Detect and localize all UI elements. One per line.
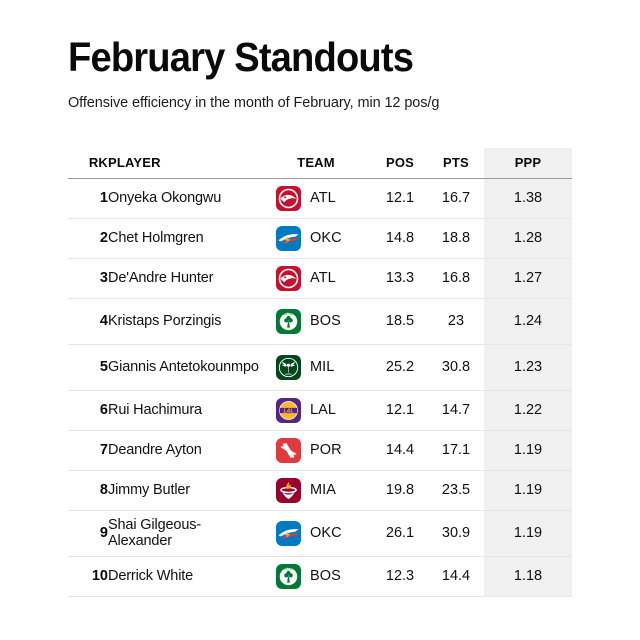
svg-text:CELTICS: CELTICS <box>282 311 295 315</box>
team-cell: ATL <box>260 186 372 211</box>
cell-rank: 6 <box>68 390 108 430</box>
player-name-text: Giannis Antetokounmpo <box>108 359 260 375</box>
cell-player-name[interactable]: De'Andre Hunter <box>108 258 260 298</box>
table-row[interactable]: 6Rui Hachimura LAL LAL12.114.71.22 <box>68 390 572 430</box>
team-abbreviation: MIA <box>310 482 336 498</box>
cell-pos: 18.5 <box>372 298 428 344</box>
cell-player-name[interactable]: Deandre Ayton <box>108 430 260 470</box>
player-name-text: Onyeka Okongwu <box>108 190 260 206</box>
player-name-text: Deandre Ayton <box>108 442 260 458</box>
cell-pts: 17.1 <box>428 430 484 470</box>
team-abbreviation: OKC <box>310 525 342 541</box>
table-row[interactable]: 3De'Andre Hunter ATL13.316.81.27 <box>68 258 572 298</box>
standouts-page: February Standouts Offensive efficiency … <box>0 0 640 640</box>
table-body: 1Onyeka Okongwu ATL12.116.71.382Chet Hol… <box>68 178 572 596</box>
team-cell: LAL LAL <box>260 398 372 423</box>
cell-pos: 14.8 <box>372 218 428 258</box>
cell-ppp: 1.18 <box>484 556 572 596</box>
team-abbreviation: POR <box>310 442 342 458</box>
cell-rank: 10 <box>68 556 108 596</box>
cell-team[interactable]: OKC <box>260 218 372 258</box>
lakers-logo: LAL <box>276 398 301 423</box>
cell-team[interactable]: MIL <box>260 344 372 390</box>
cell-pts: 14.7 <box>428 390 484 430</box>
cell-ppp: 1.19 <box>484 510 572 556</box>
svg-text:LAL: LAL <box>283 408 293 414</box>
cell-pos: 14.4 <box>372 430 428 470</box>
hawks-logo <box>276 186 301 211</box>
column-header-team[interactable]: TEAM <box>260 148 372 178</box>
cell-ppp: 1.28 <box>484 218 572 258</box>
cell-ppp: 1.19 <box>484 470 572 510</box>
cell-pts: 16.8 <box>428 258 484 298</box>
table-row[interactable]: 5Giannis Antetokounmpo MIL25.230.81.23 <box>68 344 572 390</box>
cell-player-name[interactable]: Chet Holmgren <box>108 218 260 258</box>
cell-player-name[interactable]: Onyeka Okongwu <box>108 178 260 218</box>
cell-ppp: 1.27 <box>484 258 572 298</box>
player-name-text: Rui Hachimura <box>108 402 260 418</box>
cell-team[interactable]: ATL <box>260 258 372 298</box>
player-name-text: Jimmy Butler <box>108 482 260 498</box>
cell-team[interactable]: CELTICS BOS <box>260 298 372 344</box>
cell-player-name[interactable]: Rui Hachimura <box>108 390 260 430</box>
table-row[interactable]: 10Derrick White CELTICS BOS12.314.41.18 <box>68 556 572 596</box>
bucks-logo <box>276 355 301 380</box>
team-cell: ATL <box>260 266 372 291</box>
cell-player-name[interactable]: Kristaps Porzingis <box>108 298 260 344</box>
column-header-rk[interactable]: RK <box>68 148 108 178</box>
cell-rank: 7 <box>68 430 108 470</box>
table-header: RK PLAYER TEAM POS PTS PPP <box>68 148 572 178</box>
cell-player-name[interactable]: Jimmy Butler <box>108 470 260 510</box>
team-abbreviation: MIL <box>310 359 334 375</box>
team-cell: MIA <box>260 478 372 503</box>
column-header-player[interactable]: PLAYER <box>108 148 260 178</box>
team-cell: OKC <box>260 226 372 251</box>
cell-ppp: 1.23 <box>484 344 572 390</box>
hawks-logo <box>276 266 301 291</box>
player-name-text: Shai Gilgeous-Alexander <box>108 517 260 549</box>
cell-pts: 16.7 <box>428 178 484 218</box>
cell-team[interactable]: MIA <box>260 470 372 510</box>
stats-table: RK PLAYER TEAM POS PTS PPP 1Onyeka Okong… <box>68 148 572 597</box>
column-header-pos[interactable]: POS <box>372 148 428 178</box>
cell-pos: 26.1 <box>372 510 428 556</box>
player-name-text: Chet Holmgren <box>108 230 260 246</box>
cell-ppp: 1.24 <box>484 298 572 344</box>
cell-team[interactable]: CELTICS BOS <box>260 556 372 596</box>
cell-pts: 30.8 <box>428 344 484 390</box>
cell-pos: 12.3 <box>372 556 428 596</box>
cell-pos: 13.3 <box>372 258 428 298</box>
column-header-pts[interactable]: PTS <box>428 148 484 178</box>
player-name-text: Kristaps Porzingis <box>108 313 260 329</box>
cell-pos: 19.8 <box>372 470 428 510</box>
cell-pts: 30.9 <box>428 510 484 556</box>
cell-player-name[interactable]: Derrick White <box>108 556 260 596</box>
cell-player-name[interactable]: Giannis Antetokounmpo <box>108 344 260 390</box>
thunder-logo <box>276 226 301 251</box>
table-row[interactable]: 7Deandre Ayton POR14.417.11.19 <box>68 430 572 470</box>
cell-player-name[interactable]: Shai Gilgeous-Alexander <box>108 510 260 556</box>
cell-ppp: 1.38 <box>484 178 572 218</box>
cell-team[interactable]: ATL <box>260 178 372 218</box>
cell-rank: 9 <box>68 510 108 556</box>
player-name-text: De'Andre Hunter <box>108 270 260 286</box>
cell-rank: 5 <box>68 344 108 390</box>
svg-text:CELTICS: CELTICS <box>282 566 295 570</box>
cell-rank: 1 <box>68 178 108 218</box>
team-abbreviation: ATL <box>310 190 336 206</box>
cell-rank: 4 <box>68 298 108 344</box>
table-header-row: RK PLAYER TEAM POS PTS PPP <box>68 148 572 178</box>
cell-rank: 8 <box>68 470 108 510</box>
cell-pos: 12.1 <box>372 390 428 430</box>
team-cell: MIL <box>260 355 372 380</box>
table-row[interactable]: 4Kristaps Porzingis CELTICS BOS18.5231.2… <box>68 298 572 344</box>
blazers-logo <box>276 438 301 463</box>
team-cell: OKC <box>260 521 372 546</box>
celtics-logo: CELTICS <box>276 309 301 334</box>
cell-pts: 23 <box>428 298 484 344</box>
heat-logo <box>276 478 301 503</box>
team-abbreviation: OKC <box>310 230 342 246</box>
team-cell: POR <box>260 438 372 463</box>
cell-pts: 18.8 <box>428 218 484 258</box>
page-title: February Standouts <box>68 36 537 79</box>
celtics-logo: CELTICS <box>276 564 301 589</box>
table-row[interactable]: 9Shai Gilgeous-Alexander OKC26.130.91.19 <box>68 510 572 556</box>
column-header-ppp[interactable]: PPP <box>484 148 572 178</box>
cell-rank: 2 <box>68 218 108 258</box>
team-cell: CELTICS BOS <box>260 309 372 334</box>
cell-pts: 23.5 <box>428 470 484 510</box>
thunder-logo <box>276 521 301 546</box>
cell-rank: 3 <box>68 258 108 298</box>
heading-block: February Standouts Offensive efficiency … <box>68 36 572 112</box>
team-abbreviation: BOS <box>310 568 341 584</box>
stats-table-container: RK PLAYER TEAM POS PTS PPP 1Onyeka Okong… <box>68 148 572 597</box>
cell-ppp: 1.19 <box>484 430 572 470</box>
cell-pts: 14.4 <box>428 556 484 596</box>
team-abbreviation: LAL <box>310 402 336 418</box>
cell-team[interactable]: OKC <box>260 510 372 556</box>
team-abbreviation: ATL <box>310 270 336 286</box>
cell-team[interactable]: LAL LAL <box>260 390 372 430</box>
page-subtitle: Offensive efficiency in the month of Feb… <box>68 95 572 112</box>
table-row[interactable]: 1Onyeka Okongwu ATL12.116.71.38 <box>68 178 572 218</box>
team-abbreviation: BOS <box>310 313 341 329</box>
cell-pos: 12.1 <box>372 178 428 218</box>
table-row[interactable]: 2Chet Holmgren OKC14.818.81.28 <box>68 218 572 258</box>
cell-ppp: 1.22 <box>484 390 572 430</box>
cell-team[interactable]: POR <box>260 430 372 470</box>
table-row[interactable]: 8Jimmy Butler MIA19.823.51.19 <box>68 470 572 510</box>
team-cell: CELTICS BOS <box>260 564 372 589</box>
player-name-text: Derrick White <box>108 568 260 584</box>
cell-pos: 25.2 <box>372 344 428 390</box>
